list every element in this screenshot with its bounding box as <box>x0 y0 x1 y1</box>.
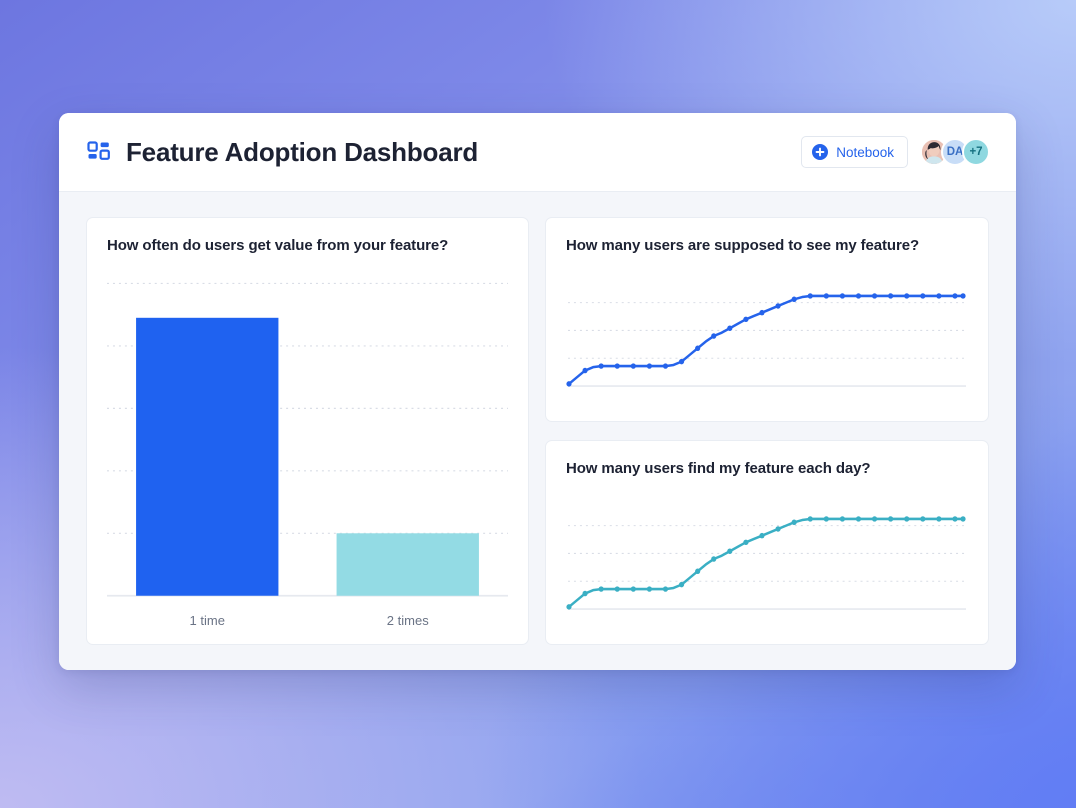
bar-1[interactable] <box>337 533 479 595</box>
notebook-button[interactable]: Notebook <box>801 136 908 168</box>
x-label-0: 1 time <box>107 613 308 628</box>
page-title: Feature Adoption Dashboard <box>126 137 478 168</box>
data-point-6[interactable] <box>615 363 620 368</box>
data-point-42[interactable] <box>904 293 909 298</box>
data-point-2[interactable] <box>582 368 587 373</box>
card-title-daily-discovery: How many users find my feature each day? <box>566 460 968 477</box>
data-point-16[interactable] <box>695 346 700 351</box>
data-point-38[interactable] <box>872 516 877 521</box>
x-label-1: 2 times <box>308 613 509 628</box>
data-point-48[interactable] <box>952 516 957 521</box>
data-point-34[interactable] <box>840 293 845 298</box>
header-right: Notebook DA +7 <box>801 136 990 168</box>
data-point-22[interactable] <box>743 317 748 322</box>
data-point-10[interactable] <box>647 586 652 591</box>
data-point-30[interactable] <box>808 293 813 298</box>
data-point-28[interactable] <box>792 520 797 525</box>
data-point-26[interactable] <box>775 526 780 531</box>
data-point-6[interactable] <box>615 586 620 591</box>
data-point-46[interactable] <box>936 293 941 298</box>
header-left: Feature Adoption Dashboard <box>87 137 801 168</box>
bar-chart-x-labels: 1 time 2 times <box>107 613 508 628</box>
data-point-24[interactable] <box>759 533 764 538</box>
data-point-12[interactable] <box>663 586 668 591</box>
data-point-26[interactable] <box>775 303 780 308</box>
data-point-40[interactable] <box>888 293 893 298</box>
dashboard-board: How often do users get value from your f… <box>59 192 1016 670</box>
data-point-16[interactable] <box>695 569 700 574</box>
card-title-value-frequency: How often do users get value from your f… <box>107 237 508 254</box>
card-expected-reach: How many users are supposed to see my fe… <box>545 217 989 422</box>
data-point-40[interactable] <box>888 516 893 521</box>
data-point-0[interactable] <box>566 604 571 609</box>
line-chart-area-daily <box>566 481 968 628</box>
data-point-8[interactable] <box>631 363 636 368</box>
card-title-expected-reach: How many users are supposed to see my fe… <box>566 237 968 254</box>
data-point-2[interactable] <box>582 591 587 596</box>
data-point-24[interactable] <box>759 310 764 315</box>
data-point-28[interactable] <box>792 297 797 302</box>
data-point-49[interactable] <box>960 516 965 521</box>
bar-chart-area <box>107 258 508 605</box>
data-point-32[interactable] <box>824 293 829 298</box>
line-chart-area-expected <box>566 258 968 405</box>
card-daily-discovery: How many users find my feature each day? <box>545 440 989 645</box>
data-point-49[interactable] <box>960 293 965 298</box>
data-point-42[interactable] <box>904 516 909 521</box>
data-point-4[interactable] <box>599 363 604 368</box>
data-point-36[interactable] <box>856 293 861 298</box>
avatar-group[interactable]: DA +7 <box>920 138 990 166</box>
avatar-overflow-count[interactable]: +7 <box>962 138 990 166</box>
notebook-button-label: Notebook <box>836 145 894 160</box>
data-point-4[interactable] <box>599 586 604 591</box>
dashboard-grid-icon <box>87 140 111 164</box>
data-point-0[interactable] <box>566 381 571 386</box>
data-point-18[interactable] <box>711 333 716 338</box>
data-point-8[interactable] <box>631 586 636 591</box>
data-point-34[interactable] <box>840 516 845 521</box>
data-point-22[interactable] <box>743 540 748 545</box>
data-point-30[interactable] <box>808 516 813 521</box>
card-value-frequency: How often do users get value from your f… <box>86 217 529 645</box>
data-point-36[interactable] <box>856 516 861 521</box>
data-point-44[interactable] <box>920 293 925 298</box>
data-point-46[interactable] <box>936 516 941 521</box>
data-point-10[interactable] <box>647 363 652 368</box>
data-point-20[interactable] <box>727 548 732 553</box>
data-point-38[interactable] <box>872 293 877 298</box>
plus-circle-icon <box>812 144 828 160</box>
data-point-48[interactable] <box>952 293 957 298</box>
dashboard-window: Feature Adoption Dashboard Notebook <box>59 113 1016 670</box>
data-point-32[interactable] <box>824 516 829 521</box>
series-line <box>569 519 963 607</box>
board-column-left: How often do users get value from your f… <box>86 217 529 645</box>
dashboard-header: Feature Adoption Dashboard Notebook <box>59 113 1016 192</box>
bar-0[interactable] <box>136 318 278 596</box>
series-line <box>569 296 963 384</box>
board-column-right: How many users are supposed to see my fe… <box>545 217 989 645</box>
data-point-18[interactable] <box>711 556 716 561</box>
data-point-14[interactable] <box>679 359 684 364</box>
data-point-14[interactable] <box>679 582 684 587</box>
data-point-20[interactable] <box>727 325 732 330</box>
data-point-44[interactable] <box>920 516 925 521</box>
data-point-12[interactable] <box>663 363 668 368</box>
